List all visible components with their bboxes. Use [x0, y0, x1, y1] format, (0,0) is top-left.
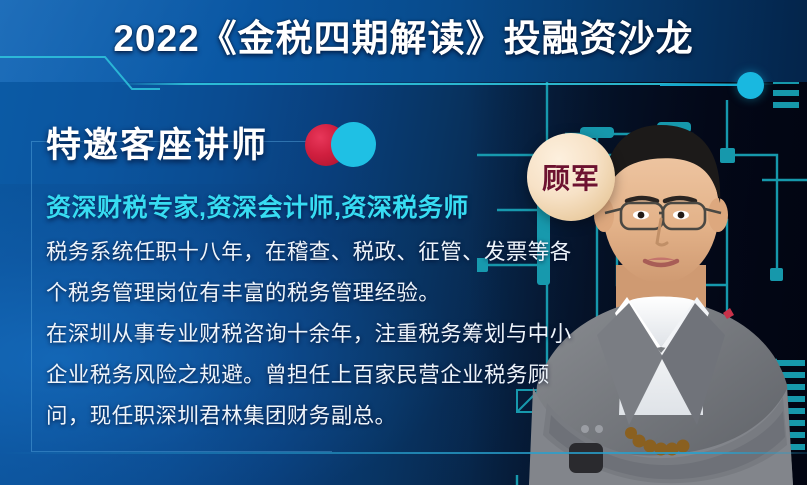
poster-canvas: 2022《金税四期解读》投融资沙龙 特邀客座讲师 资深财税专家,资深会计师,资深… — [0, 0, 807, 485]
subtitle-text: 资深财税专家,资深会计师,资深税务师 — [46, 188, 469, 224]
dot-connector-line — [660, 84, 740, 86]
headline-text: 特邀客座讲师 — [46, 117, 268, 168]
speaker-name-badge: 顾军 — [527, 133, 615, 221]
bio-text: 税务系统任职十八年，在稽查、税政、征管、发票等各个税务管理岗位有丰富的税务管理经… — [46, 232, 576, 437]
speaker-name: 顾军 — [542, 157, 600, 197]
diagonal-line-decor — [0, 55, 160, 105]
bio-paragraph-1: 税务系统任职十八年，在稽查、税政、征管、发票等各个税务管理岗位有丰富的税务管理经… — [46, 232, 576, 314]
bottom-rule — [0, 452, 807, 454]
circle-cyan-icon — [331, 122, 376, 167]
bio-paragraph-2: 在深圳从事专业财税咨询十余年，注重税务筹划与中小企业税务风险之规避。曾担任上百家… — [46, 314, 576, 437]
dot-cyan-icon — [737, 72, 764, 99]
circle-decoration — [305, 122, 375, 168]
